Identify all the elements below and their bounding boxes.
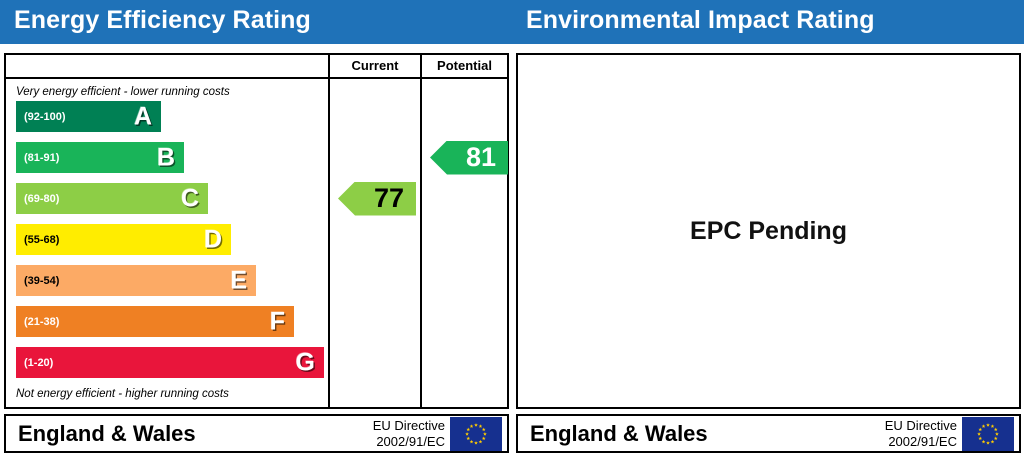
rating-band-c: (69-80)C [16,183,208,214]
band-letter-label: G [296,350,315,375]
band-letter-label: B [157,145,175,170]
band-letter-label: C [181,186,199,211]
band-letter-label: E [230,268,247,293]
region-label: England & Wales [18,421,196,447]
column-header-potential: Potential [422,58,507,73]
energy-efficiency-panel: Energy Efficiency Rating Current Potenti… [0,0,512,457]
eu-directive-line2-right: 2002/91/EC [885,434,957,450]
environmental-impact-panel: Environmental Impact Rating EPC Pending … [512,0,1024,457]
eu-directive-label: EU Directive 2002/91/EC [373,417,445,450]
eu-flag-icon-right [962,417,1014,451]
rating-band-g: (1-20)G [16,347,324,378]
rating-marker-current: 77 [338,182,416,216]
caption-efficient: Very energy efficient - lower running co… [16,86,230,98]
footer-left: England & Wales EU Directive 2002/91/EC [4,414,509,453]
column-header-row: Current Potential [6,55,507,79]
rating-band-a: (92-100)A [16,101,161,132]
region-label-right: England & Wales [530,421,708,447]
eu-directive-label-right: EU Directive 2002/91/EC [885,417,957,450]
eu-directive-line1: EU Directive [373,417,445,433]
band-range-label: (92-100) [24,111,66,123]
rating-marker-potential: 81 [430,141,508,175]
epc-pending-message: EPC Pending [518,55,1019,407]
band-range-label: (39-54) [24,275,59,287]
band-range-label: (21-38) [24,316,59,328]
page-title: Energy Efficiency Rating [14,6,311,35]
rating-band-f: (21-38)F [16,306,294,337]
environmental-impact-header: Environmental Impact Rating [512,0,1024,44]
eu-directive-line2: 2002/91/EC [373,434,445,450]
energy-efficiency-header: Energy Efficiency Rating [0,0,512,44]
page-title-right: Environmental Impact Rating [526,6,875,35]
rating-marker-value: 77 [374,185,404,212]
epc-certificate: Energy Efficiency Rating Current Potenti… [0,0,1024,457]
eu-flag-icon [450,417,502,451]
band-range-label: (55-68) [24,234,59,246]
rating-band-e: (39-54)E [16,265,256,296]
rating-marker-value: 81 [466,144,496,171]
column-header-current: Current [330,58,420,73]
energy-efficiency-chart: Current Potential Very energy efficient … [4,53,509,409]
eu-directive-line1-right: EU Directive [885,417,957,433]
band-letter-label: A [134,104,152,129]
band-letter-label: F [270,309,285,334]
band-letter-label: D [204,227,222,252]
rating-band-d: (55-68)D [16,224,231,255]
environmental-impact-chart: EPC Pending [516,53,1021,409]
rating-band-b: (81-91)B [16,142,184,173]
band-range-label: (69-80) [24,193,59,205]
body-divider-current [328,79,330,407]
footer-right: England & Wales EU Directive 2002/91/EC [516,414,1021,453]
body-divider-potential [420,79,422,407]
band-range-label: (1-20) [24,357,53,369]
caption-inefficient: Not energy efficient - higher running co… [16,388,229,400]
band-range-label: (81-91) [24,152,59,164]
